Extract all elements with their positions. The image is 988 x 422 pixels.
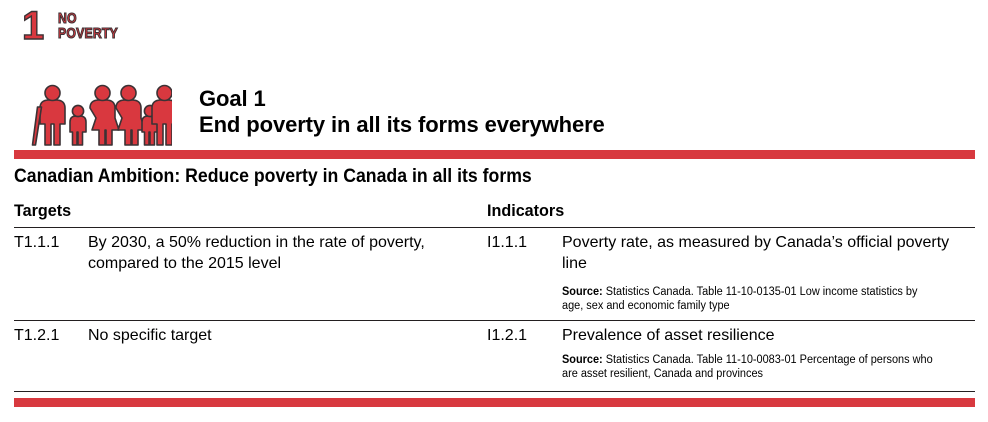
sdg-number: 1 — [22, 6, 43, 46]
target-text: No specific target — [88, 325, 458, 346]
source-label: Source: — [562, 354, 603, 366]
source-text: Statistics Canada. Table 11-10-0083-01 P… — [562, 354, 933, 380]
target-code: T1.2.1 — [14, 325, 59, 346]
table-bottom-divider — [14, 391, 975, 392]
bottom-red-rule — [14, 398, 975, 407]
goal-subtitle: End poverty in all its forms everywhere — [199, 112, 605, 138]
sdg-goal-badge: 1 NO POVERTY — [22, 6, 142, 54]
sdg-label-line1: NO — [58, 11, 132, 26]
indicator-source: Source: Statistics Canada. Table 11-10-0… — [562, 285, 937, 313]
sdg-label-line2: POVERTY — [58, 26, 132, 41]
indicator-text: Poverty rate, as measured by Canada’s of… — [562, 232, 962, 274]
top-red-rule — [14, 150, 975, 159]
family-pictogram-icon — [22, 74, 172, 146]
column-header-indicators: Indicators — [487, 201, 564, 221]
source-text: Statistics Canada. Table 11-10-0135-01 L… — [562, 286, 917, 312]
column-header-targets: Targets — [14, 201, 71, 221]
canadian-ambition-heading: Canadian Ambition: Reduce poverty in Can… — [14, 166, 532, 188]
indicator-text: Prevalence of asset resilience — [562, 325, 962, 346]
indicator-source: Source: Statistics Canada. Table 11-10-0… — [562, 353, 937, 381]
page-title: Goal 1 End poverty in all its forms ever… — [199, 86, 605, 138]
table-row-divider — [14, 320, 975, 321]
goal-number: Goal 1 — [199, 86, 605, 112]
source-label: Source: — [562, 286, 603, 298]
target-text: By 2030, a 50% reduction in the rate of … — [88, 232, 458, 274]
indicator-code: I1.2.1 — [487, 325, 527, 346]
target-code: T1.1.1 — [14, 232, 59, 253]
sdg-label: NO POVERTY — [58, 11, 148, 41]
goal-page: 1 NO POVERTY — [0, 0, 988, 422]
indicator-code: I1.1.1 — [487, 232, 527, 253]
table-header-divider — [14, 227, 975, 228]
